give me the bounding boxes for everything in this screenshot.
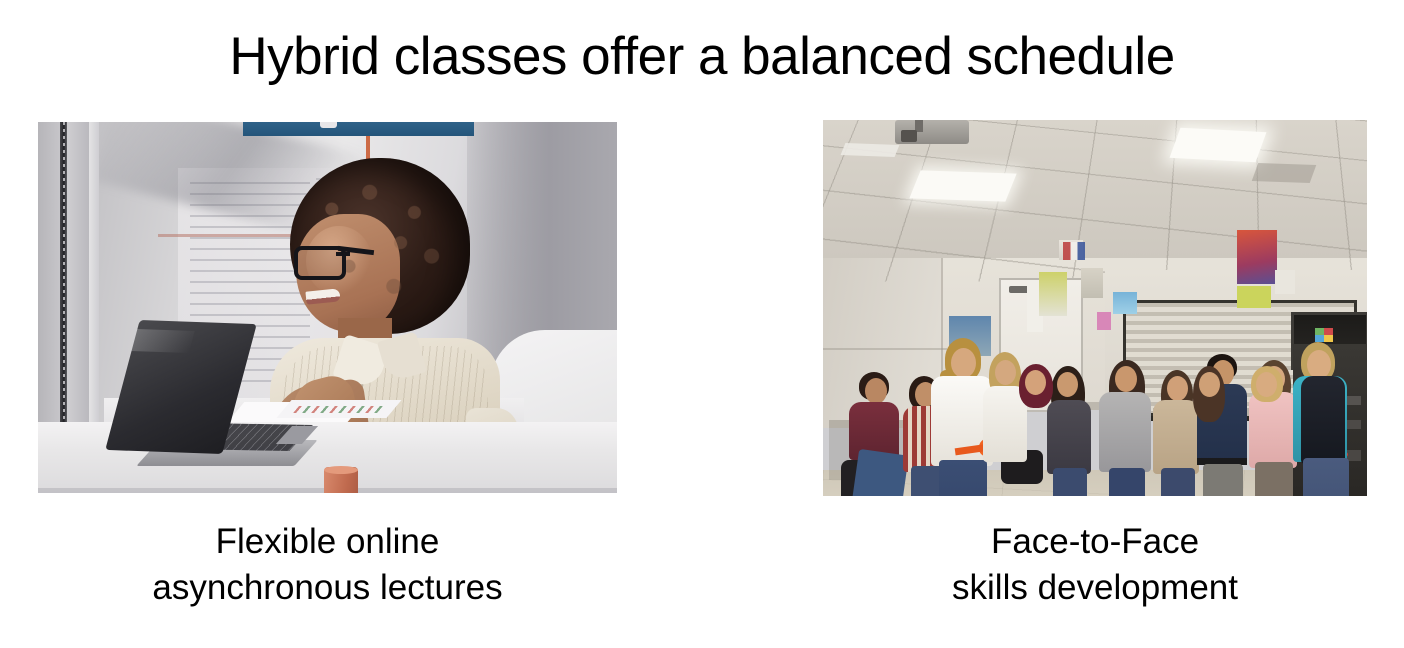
classroom-photo xyxy=(823,120,1367,496)
ceiling-air-vent xyxy=(1252,163,1317,183)
window-frame-middle xyxy=(67,122,89,432)
coffee-mug-rim xyxy=(324,466,358,474)
window-frame-left xyxy=(38,122,60,440)
wall-horizontal-seam xyxy=(823,348,947,350)
blue-banner-sign xyxy=(243,122,474,136)
wall-poster-8 xyxy=(1237,230,1277,284)
window-frame-ticks xyxy=(63,122,65,422)
projector-lens xyxy=(901,130,917,142)
window-frame-inner xyxy=(89,122,99,427)
wall-poster-4 xyxy=(1039,272,1067,316)
wall-poster-7 xyxy=(1097,312,1111,330)
online-learning-photo xyxy=(38,122,617,493)
page-title: Hybrid classes offer a balanced schedule xyxy=(0,26,1404,88)
monitor-logo-icon xyxy=(1315,328,1333,342)
ceiling-light-panel-1 xyxy=(909,170,1016,201)
right-caption-line-2: skills development xyxy=(823,565,1367,611)
right-caption-line-1: Face-to-Face xyxy=(823,519,1367,565)
wall-poster-2 xyxy=(1081,268,1103,298)
left-caption-line-1: Flexible online xyxy=(38,519,617,565)
wall-poster-6 xyxy=(1113,292,1137,314)
ceiling-light-panel-3 xyxy=(841,143,900,157)
banner-notch xyxy=(320,122,337,128)
ceiling-tile-grid xyxy=(823,120,1367,281)
wall-flag-poster xyxy=(1063,242,1085,260)
ceiling-light-panel-2 xyxy=(1170,128,1267,163)
laptop-screen-glare xyxy=(131,329,194,353)
paper-colored-marks xyxy=(293,406,383,413)
left-caption: Flexible online asynchronous lectures xyxy=(38,519,617,611)
wall-poster-10 xyxy=(1275,270,1295,294)
eyeglasses-bridge xyxy=(336,252,350,256)
wall-poster-9 xyxy=(1237,286,1271,308)
left-caption-line-2: asynchronous lectures xyxy=(38,565,617,611)
right-caption: Face-to-Face skills development xyxy=(823,519,1367,611)
